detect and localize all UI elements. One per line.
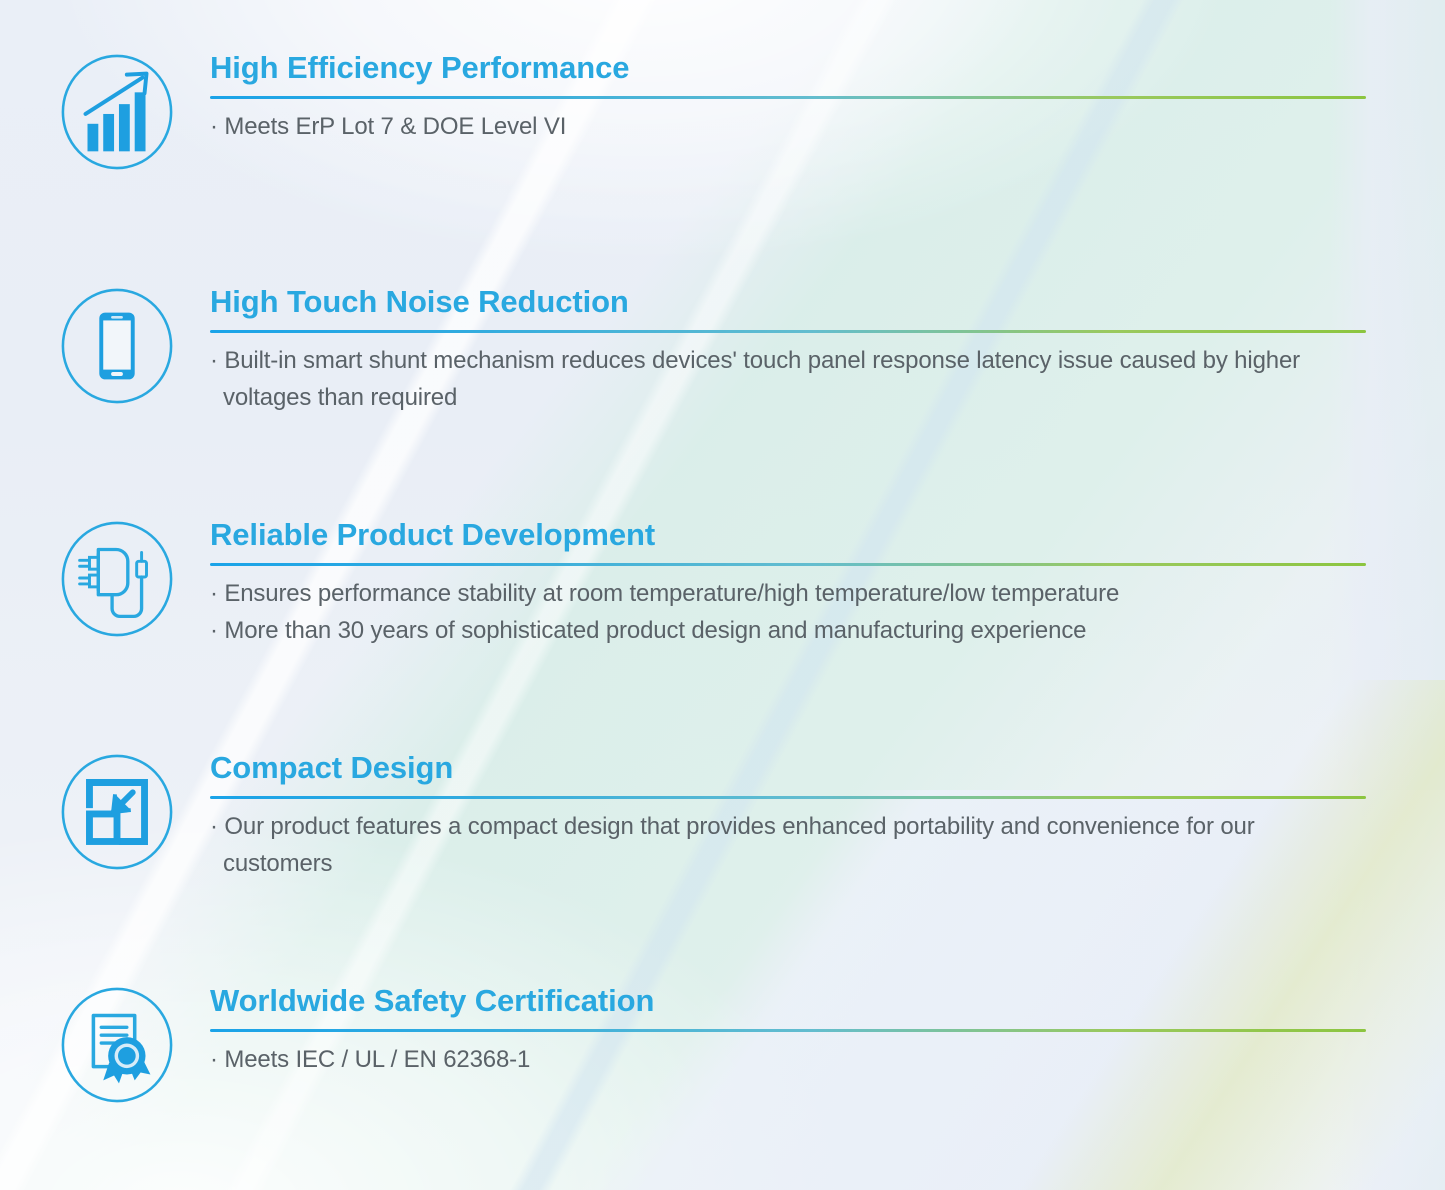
feature-divider xyxy=(210,330,1366,333)
feature-bullet: · Built-in smart shunt mechanism reduces… xyxy=(210,342,1373,418)
feature-list: High Efficiency Performance · Meets ErP … xyxy=(0,0,1445,1190)
bar-chart-growth-icon xyxy=(58,53,176,171)
feature-title: Worldwide Safety Certification xyxy=(210,985,1370,1018)
feature-bullet-list: · Ensures performance stability at room … xyxy=(210,575,1370,651)
feature-divider xyxy=(210,563,1366,566)
feature-text-block: High Efficiency Performance · Meets ErP … xyxy=(210,52,1370,145)
feature-icon-container xyxy=(57,752,177,872)
feature-divider xyxy=(210,796,1366,799)
feature-divider xyxy=(210,1029,1366,1032)
feature-bullet: · Meets ErP Lot 7 & DOE Level VI xyxy=(210,108,1370,146)
smartphone-icon xyxy=(58,287,176,405)
feature-title: High Efficiency Performance xyxy=(210,52,1370,85)
feature-text-block: Worldwide Safety Certification · Meets I… xyxy=(210,985,1370,1078)
feature-icon-container xyxy=(57,52,177,172)
feature-bullet: · Ensures performance stability at room … xyxy=(210,575,1370,613)
feature-title: Reliable Product Development xyxy=(210,519,1370,552)
feature-bullet-list: · Meets ErP Lot 7 & DOE Level VI xyxy=(210,108,1370,146)
power-adapter-icon xyxy=(58,520,176,638)
feature-icon-container xyxy=(57,286,177,406)
feature-text-block: Reliable Product Development · Ensures p… xyxy=(210,519,1370,650)
feature-icon-container xyxy=(57,519,177,639)
feature-bullet-list: · Our product features a compact design … xyxy=(210,808,1370,884)
feature-title: Compact Design xyxy=(210,752,1370,785)
feature-highlights-page: High Efficiency Performance · Meets ErP … xyxy=(0,0,1445,1190)
feature-bullet: · Meets IEC / UL / EN 62368-1 xyxy=(210,1041,1370,1079)
feature-bullet: · More than 30 years of sophisticated pr… xyxy=(210,612,1370,650)
feature-bullet-list: · Built-in smart shunt mechanism reduces… xyxy=(210,342,1370,418)
compact-resize-icon xyxy=(58,753,176,871)
certificate-award-icon xyxy=(58,986,176,1104)
feature-text-block: Compact Design · Our product features a … xyxy=(210,752,1370,883)
feature-bullet: · Our product features a compact design … xyxy=(210,808,1313,884)
feature-icon-container xyxy=(57,985,177,1105)
feature-bullet-list: · Meets IEC / UL / EN 62368-1 xyxy=(210,1041,1370,1079)
feature-divider xyxy=(210,96,1366,99)
feature-title: High Touch Noise Reduction xyxy=(210,286,1370,319)
feature-text-block: High Touch Noise Reduction · Built-in sm… xyxy=(210,286,1370,417)
